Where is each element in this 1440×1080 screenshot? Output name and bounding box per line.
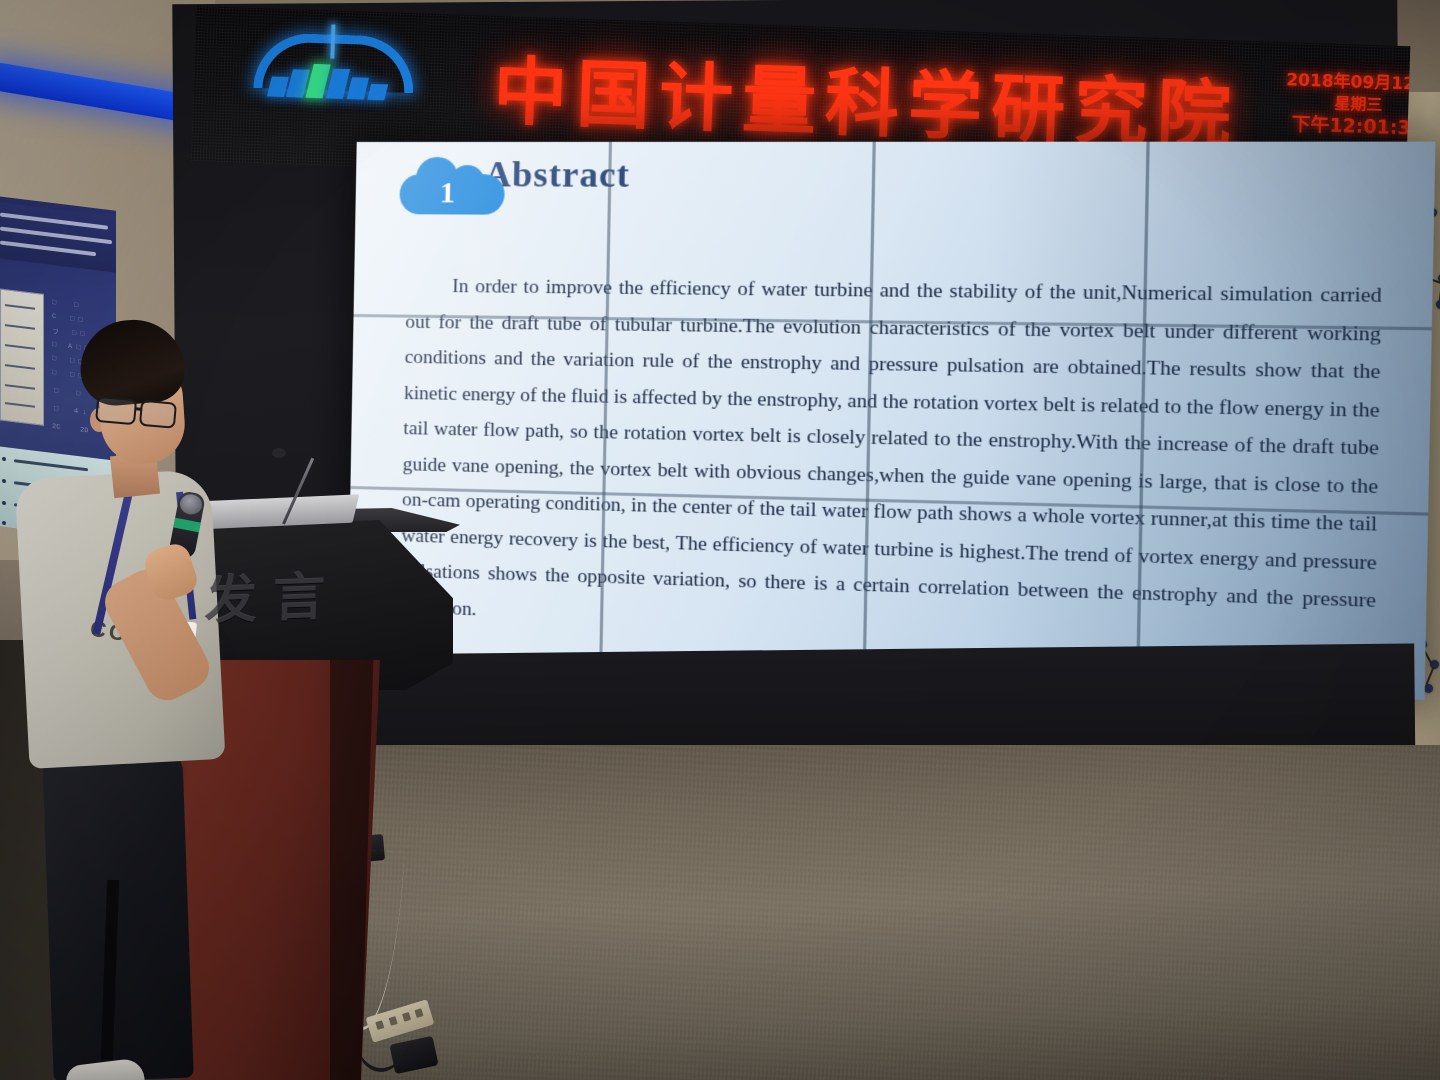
- institute-logo-icon: [253, 32, 415, 107]
- presentation-slide: 1 Abstract In order to improve the effic…: [347, 142, 1435, 700]
- slide-section-marker: 1: [399, 166, 707, 232]
- podium-label: 发言: [204, 554, 341, 634]
- presenter-hair: [77, 316, 188, 409]
- presenter-legs: [42, 748, 193, 1080]
- conference-room-scene: □□ C□ □ フ□ □ □A □ □ □□ □ □□ □ □□ □4 ↓ 2C…: [0, 0, 1440, 1080]
- video-wall-display[interactable]: 1 Abstract In order to improve the effic…: [347, 142, 1435, 700]
- presenter: COU: [28, 320, 238, 1080]
- section-number: 1: [440, 176, 456, 210]
- gooseneck-microphone-head: [272, 448, 286, 458]
- led-clock: 2018年09月12日 星期三 下午12:01:35: [1267, 70, 1410, 142]
- poster-header: [0, 202, 116, 273]
